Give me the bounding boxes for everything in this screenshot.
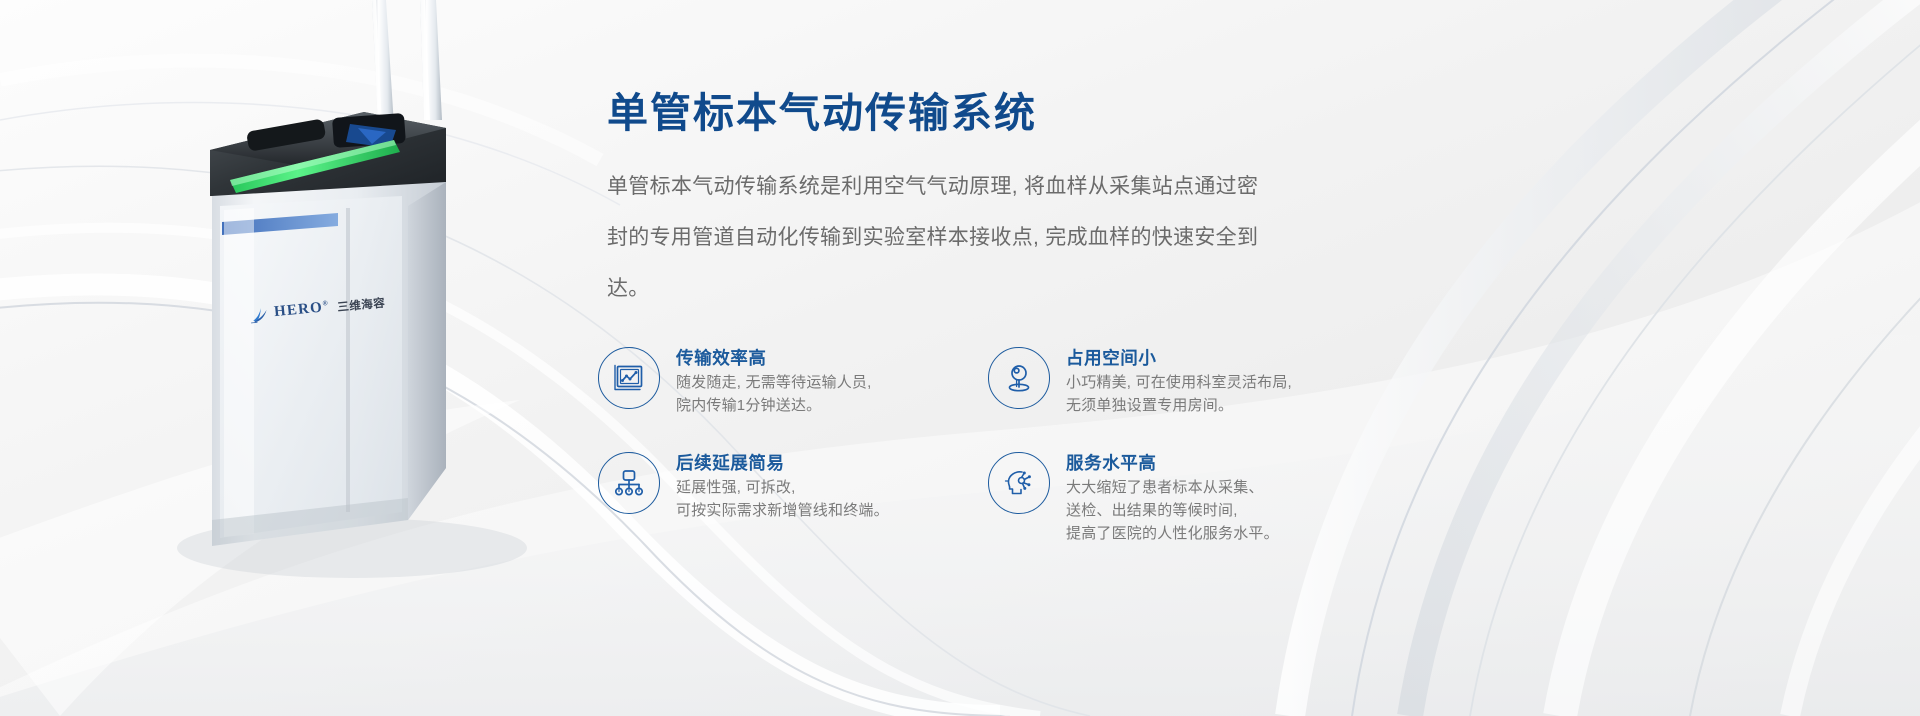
product-banner: HERO® 三维海容 单管标本气动传输系统 单管标本气动传输系统是利用空气气动原… [0,0,1920,716]
space-pin-icon [988,347,1050,409]
feature-desc: 延展性强, 可拆改, 可按实际需求新增管线和终端。 [676,476,889,522]
feature-title: 服务水平高 [1066,451,1279,476]
feature-grid: 传输效率高 随发随走, 无需等待运输人员, 院内传输1分钟送达。 占用空间小 小… [598,345,1298,555]
page-title: 单管标本气动传输系统 [607,88,1307,139]
feature-text: 占用空间小 小巧精美, 可在使用科室灵活布局, 无须单独设置专用房间。 [1066,345,1292,417]
feature-item: 传输效率高 随发随走, 无需等待运输人员, 院内传输1分钟送达。 [598,345,928,450]
network-tree-icon [598,452,660,514]
feature-item: 占用空间小 小巧精美, 可在使用科室灵活布局, 无须单独设置专用房间。 [988,345,1318,450]
feature-title: 传输效率高 [676,346,872,371]
intro-paragraph: 单管标本气动传输系统是利用空气气动原理, 将血样从采集站点通过密封的专用管道自动… [607,161,1267,314]
smart-head-icon [988,452,1050,514]
feature-text: 传输效率高 随发随走, 无需等待运输人员, 院内传输1分钟送达。 [676,345,872,417]
feature-item: 后续延展简易 延展性强, 可拆改, 可按实际需求新增管线和终端。 [598,450,928,555]
feature-text: 服务水平高 大大缩短了患者标本从采集、 送检、出结果的等候时间, 提高了医院的人… [1066,450,1279,545]
feature-desc: 随发随走, 无需等待运输人员, 院内传输1分钟送达。 [676,371,872,417]
product-image: HERO® 三维海容 [150,0,570,600]
feature-text: 后续延展简易 延展性强, 可拆改, 可按实际需求新增管线和终端。 [676,450,889,522]
feature-desc: 大大缩短了患者标本从采集、 送检、出结果的等候时间, 提高了医院的人性化服务水平… [1066,476,1279,545]
feature-title: 占用空间小 [1066,346,1292,371]
feature-desc: 小巧精美, 可在使用科室灵活布局, 无须单独设置专用房间。 [1066,371,1292,417]
feature-item: 服务水平高 大大缩短了患者标本从采集、 送检、出结果的等候时间, 提高了医院的人… [988,450,1318,555]
content-block: 单管标本气动传输系统 单管标本气动传输系统是利用空气气动原理, 将血样从采集站点… [607,88,1307,314]
chart-line-icon [598,347,660,409]
brand-trademark: ® [322,299,329,308]
feature-title: 后续延展简易 [676,451,889,476]
hero-logo-icon [250,305,270,323]
